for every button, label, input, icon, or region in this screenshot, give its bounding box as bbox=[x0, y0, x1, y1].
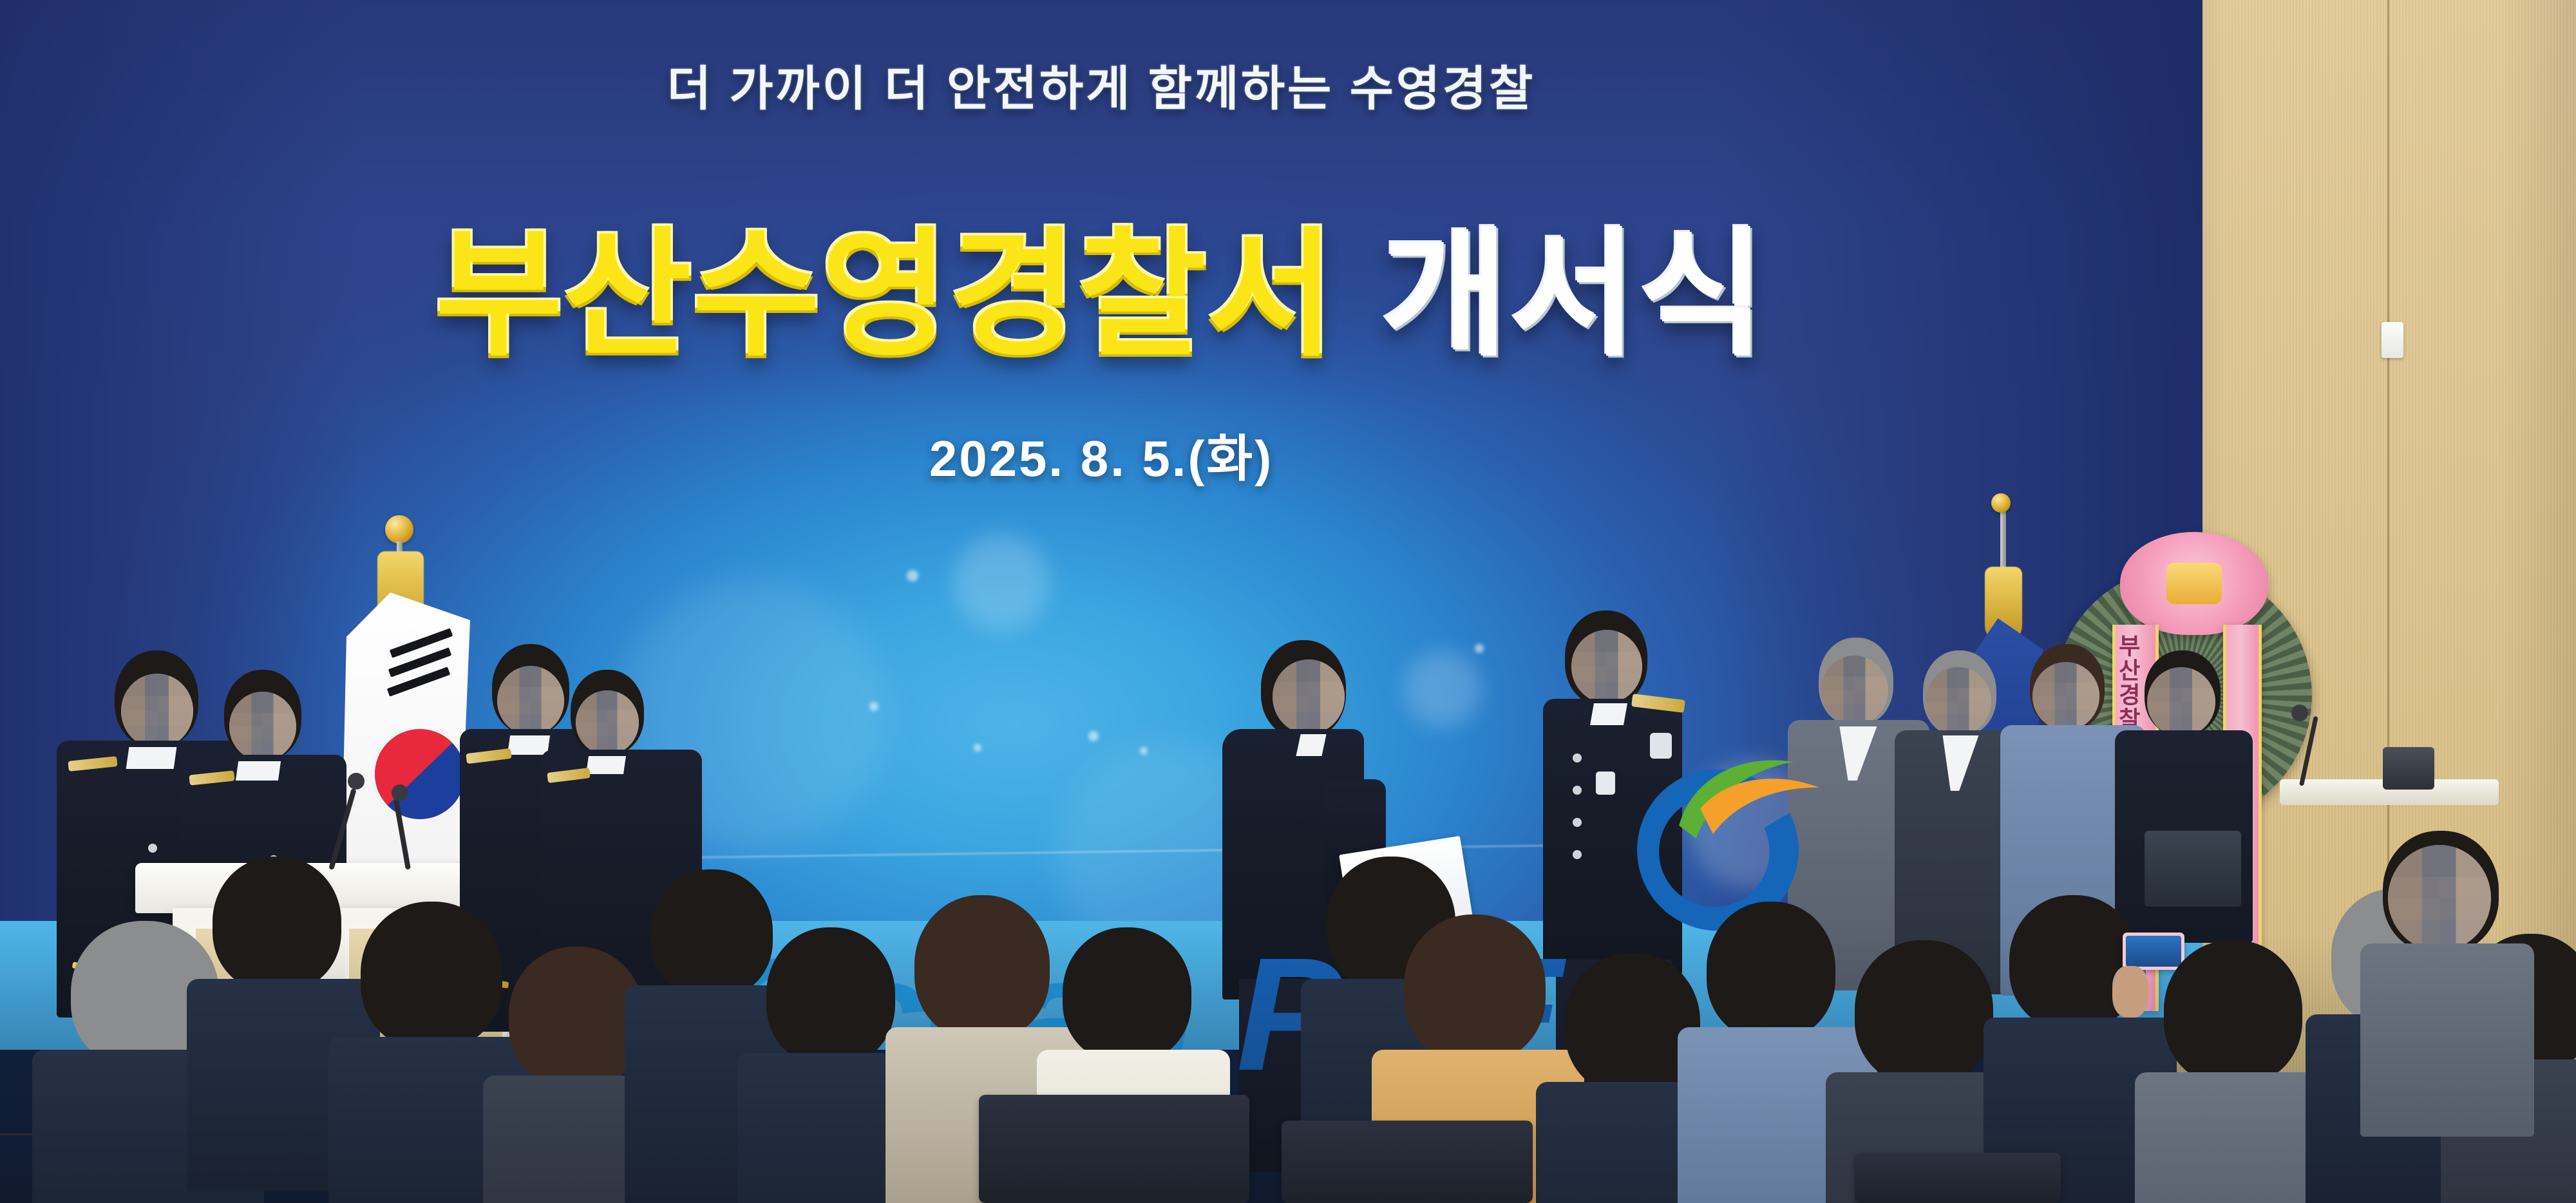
head bbox=[914, 895, 1050, 1040]
smartphone-screen bbox=[2126, 936, 2181, 967]
head bbox=[213, 857, 341, 992]
bokeh-dot bbox=[974, 744, 981, 752]
flag-finial-icon bbox=[385, 515, 413, 544]
wreath-bow-center bbox=[2166, 563, 2222, 604]
microphone-head-icon bbox=[348, 773, 365, 790]
bokeh-dot bbox=[869, 702, 878, 711]
wreath-bow bbox=[2120, 532, 2268, 635]
uniform-button bbox=[1573, 786, 1582, 795]
equipment-box bbox=[2383, 747, 2434, 790]
flag-finial-icon bbox=[1991, 493, 2011, 513]
head bbox=[2164, 940, 2302, 1085]
seat-back bbox=[979, 1095, 1249, 1203]
head bbox=[1063, 927, 1191, 1063]
bokeh-dot bbox=[1140, 747, 1148, 755]
shirt-collar bbox=[586, 756, 626, 774]
uniform-button bbox=[148, 844, 157, 853]
smartphone-icon bbox=[2123, 933, 2184, 970]
pixelated-face bbox=[576, 690, 639, 755]
south-korea-flag-icon bbox=[341, 592, 470, 869]
uniform-button bbox=[1573, 818, 1582, 827]
pixelated-face bbox=[1926, 667, 1991, 735]
shirt-collar bbox=[507, 735, 550, 755]
pixelated-face bbox=[229, 692, 296, 761]
bokeh-dot bbox=[1404, 650, 1481, 728]
pixelated-face bbox=[1821, 656, 1888, 725]
bokeh-dot bbox=[953, 535, 1050, 631]
pixelated-face bbox=[497, 666, 564, 735]
hand bbox=[2112, 966, 2148, 1018]
shirt-collar bbox=[236, 761, 281, 781]
head bbox=[1404, 914, 1546, 1063]
shoulder-patch bbox=[1650, 733, 1672, 759]
head bbox=[509, 947, 644, 1088]
microphone-head-icon bbox=[392, 784, 408, 801]
pixelated-face bbox=[1571, 630, 1642, 703]
held-folder bbox=[2145, 831, 2241, 907]
uniform-button bbox=[1573, 850, 1582, 859]
head bbox=[1707, 902, 1835, 1040]
seat-back bbox=[1855, 1153, 2061, 1203]
pixelated-face bbox=[2388, 845, 2491, 951]
head bbox=[650, 869, 773, 998]
shirt-collar bbox=[1296, 734, 1326, 756]
head bbox=[766, 927, 895, 1066]
shirt-collar bbox=[1590, 703, 1627, 725]
audience-torso bbox=[2360, 943, 2534, 1137]
chest-badge bbox=[1596, 772, 1615, 795]
pixelated-face bbox=[2032, 662, 2099, 730]
photo-canvas: 더 가까이 더 안전하게 함께하는 수영경찰 부산수영경찰서개서식 2025. … bbox=[0, 0, 2576, 1203]
bokeh-dot bbox=[1088, 731, 1099, 741]
head bbox=[361, 902, 502, 1050]
head bbox=[1855, 940, 1993, 1085]
pixelated-face bbox=[2147, 667, 2215, 737]
pixelated-face bbox=[121, 674, 193, 748]
bokeh-dot bbox=[907, 570, 918, 582]
bokeh-dot bbox=[1475, 644, 1484, 653]
wall-fixture-icon bbox=[2382, 322, 2403, 358]
shirt-collar bbox=[126, 747, 177, 769]
uniform-button bbox=[1573, 753, 1582, 763]
microphone-head-icon bbox=[2291, 705, 2308, 721]
pixelated-face bbox=[1273, 659, 1345, 734]
seat-back bbox=[1282, 1121, 1533, 1203]
